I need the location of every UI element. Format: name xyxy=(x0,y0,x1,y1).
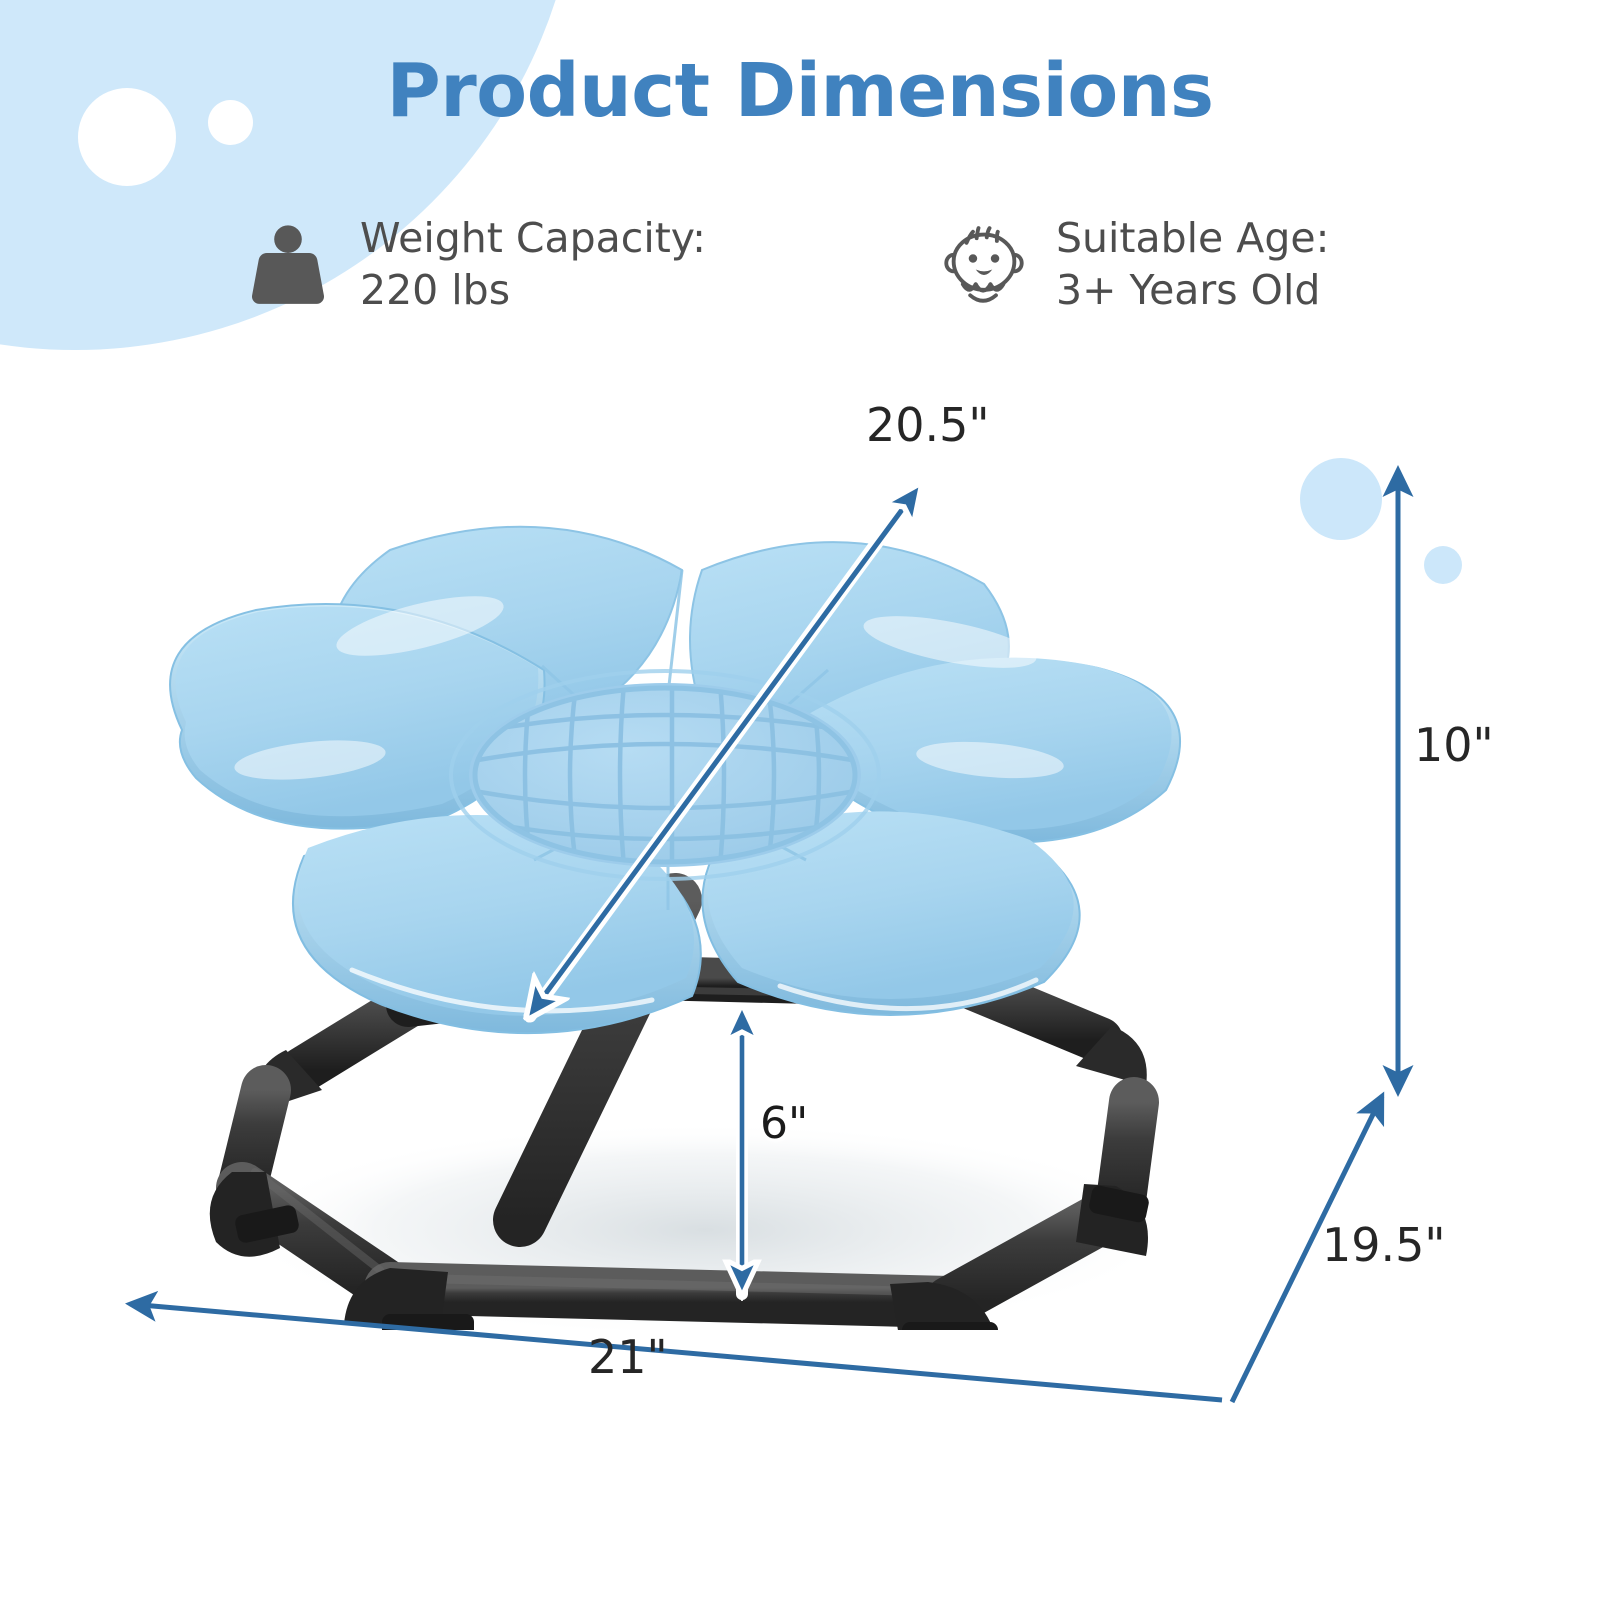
weight-kettlebell-icon xyxy=(242,218,334,310)
feature-suitable-age: Suitable Age: 3+ Years Old xyxy=(938,212,1329,317)
product-illustration xyxy=(90,430,1320,1330)
dimension-label-diagonal: 20.5" xyxy=(866,398,990,452)
dimension-label-width: 21" xyxy=(588,1330,668,1384)
feature-weight-capacity-text: Weight Capacity: 220 lbs xyxy=(360,212,706,317)
baby-face-icon xyxy=(938,218,1030,310)
page-title: Product Dimensions xyxy=(0,48,1600,134)
infographic-canvas: Product Dimensions Weight Capacity: 220 … xyxy=(0,0,1600,1600)
flower-seat xyxy=(170,527,1180,1033)
feature-weight-capacity: Weight Capacity: 220 lbs xyxy=(242,212,706,317)
dimension-label-depth: 19.5" xyxy=(1322,1218,1446,1272)
blue-circle-decoration-small xyxy=(1424,546,1462,584)
dimension-label-height: 10" xyxy=(1414,718,1494,772)
seat-center-grip-pad xyxy=(451,671,879,879)
dimension-label-seat-height: 6" xyxy=(760,1098,808,1149)
feature-suitable-age-text: Suitable Age: 3+ Years Old xyxy=(1056,212,1329,317)
